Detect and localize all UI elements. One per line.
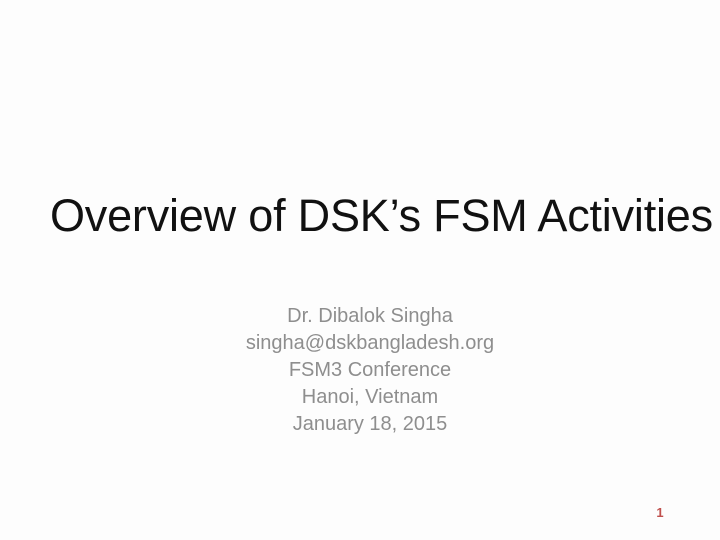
slide-number: 1 — [630, 505, 690, 521]
slide-canvas: Overview of DSK’s FSM Activities Dr. Dib… — [0, 0, 720, 540]
subtitle-placeholder: Dr. Dibalok Singha singha@dskbangladesh.… — [110, 303, 630, 438]
subtitle-line-location: Hanoi, Vietnam — [110, 384, 630, 411]
subtitle-line-email: singha@dskbangladesh.org — [110, 330, 630, 357]
page-title: Overview of DSK’s FSM Activities — [50, 190, 670, 242]
subtitle-line-conference: FSM3 Conference — [110, 357, 630, 384]
subtitle-line-date: January 18, 2015 — [110, 411, 630, 438]
subtitle-line-author: Dr. Dibalok Singha — [110, 303, 630, 330]
title-placeholder: Overview of DSK’s FSM Activities — [50, 190, 670, 242]
